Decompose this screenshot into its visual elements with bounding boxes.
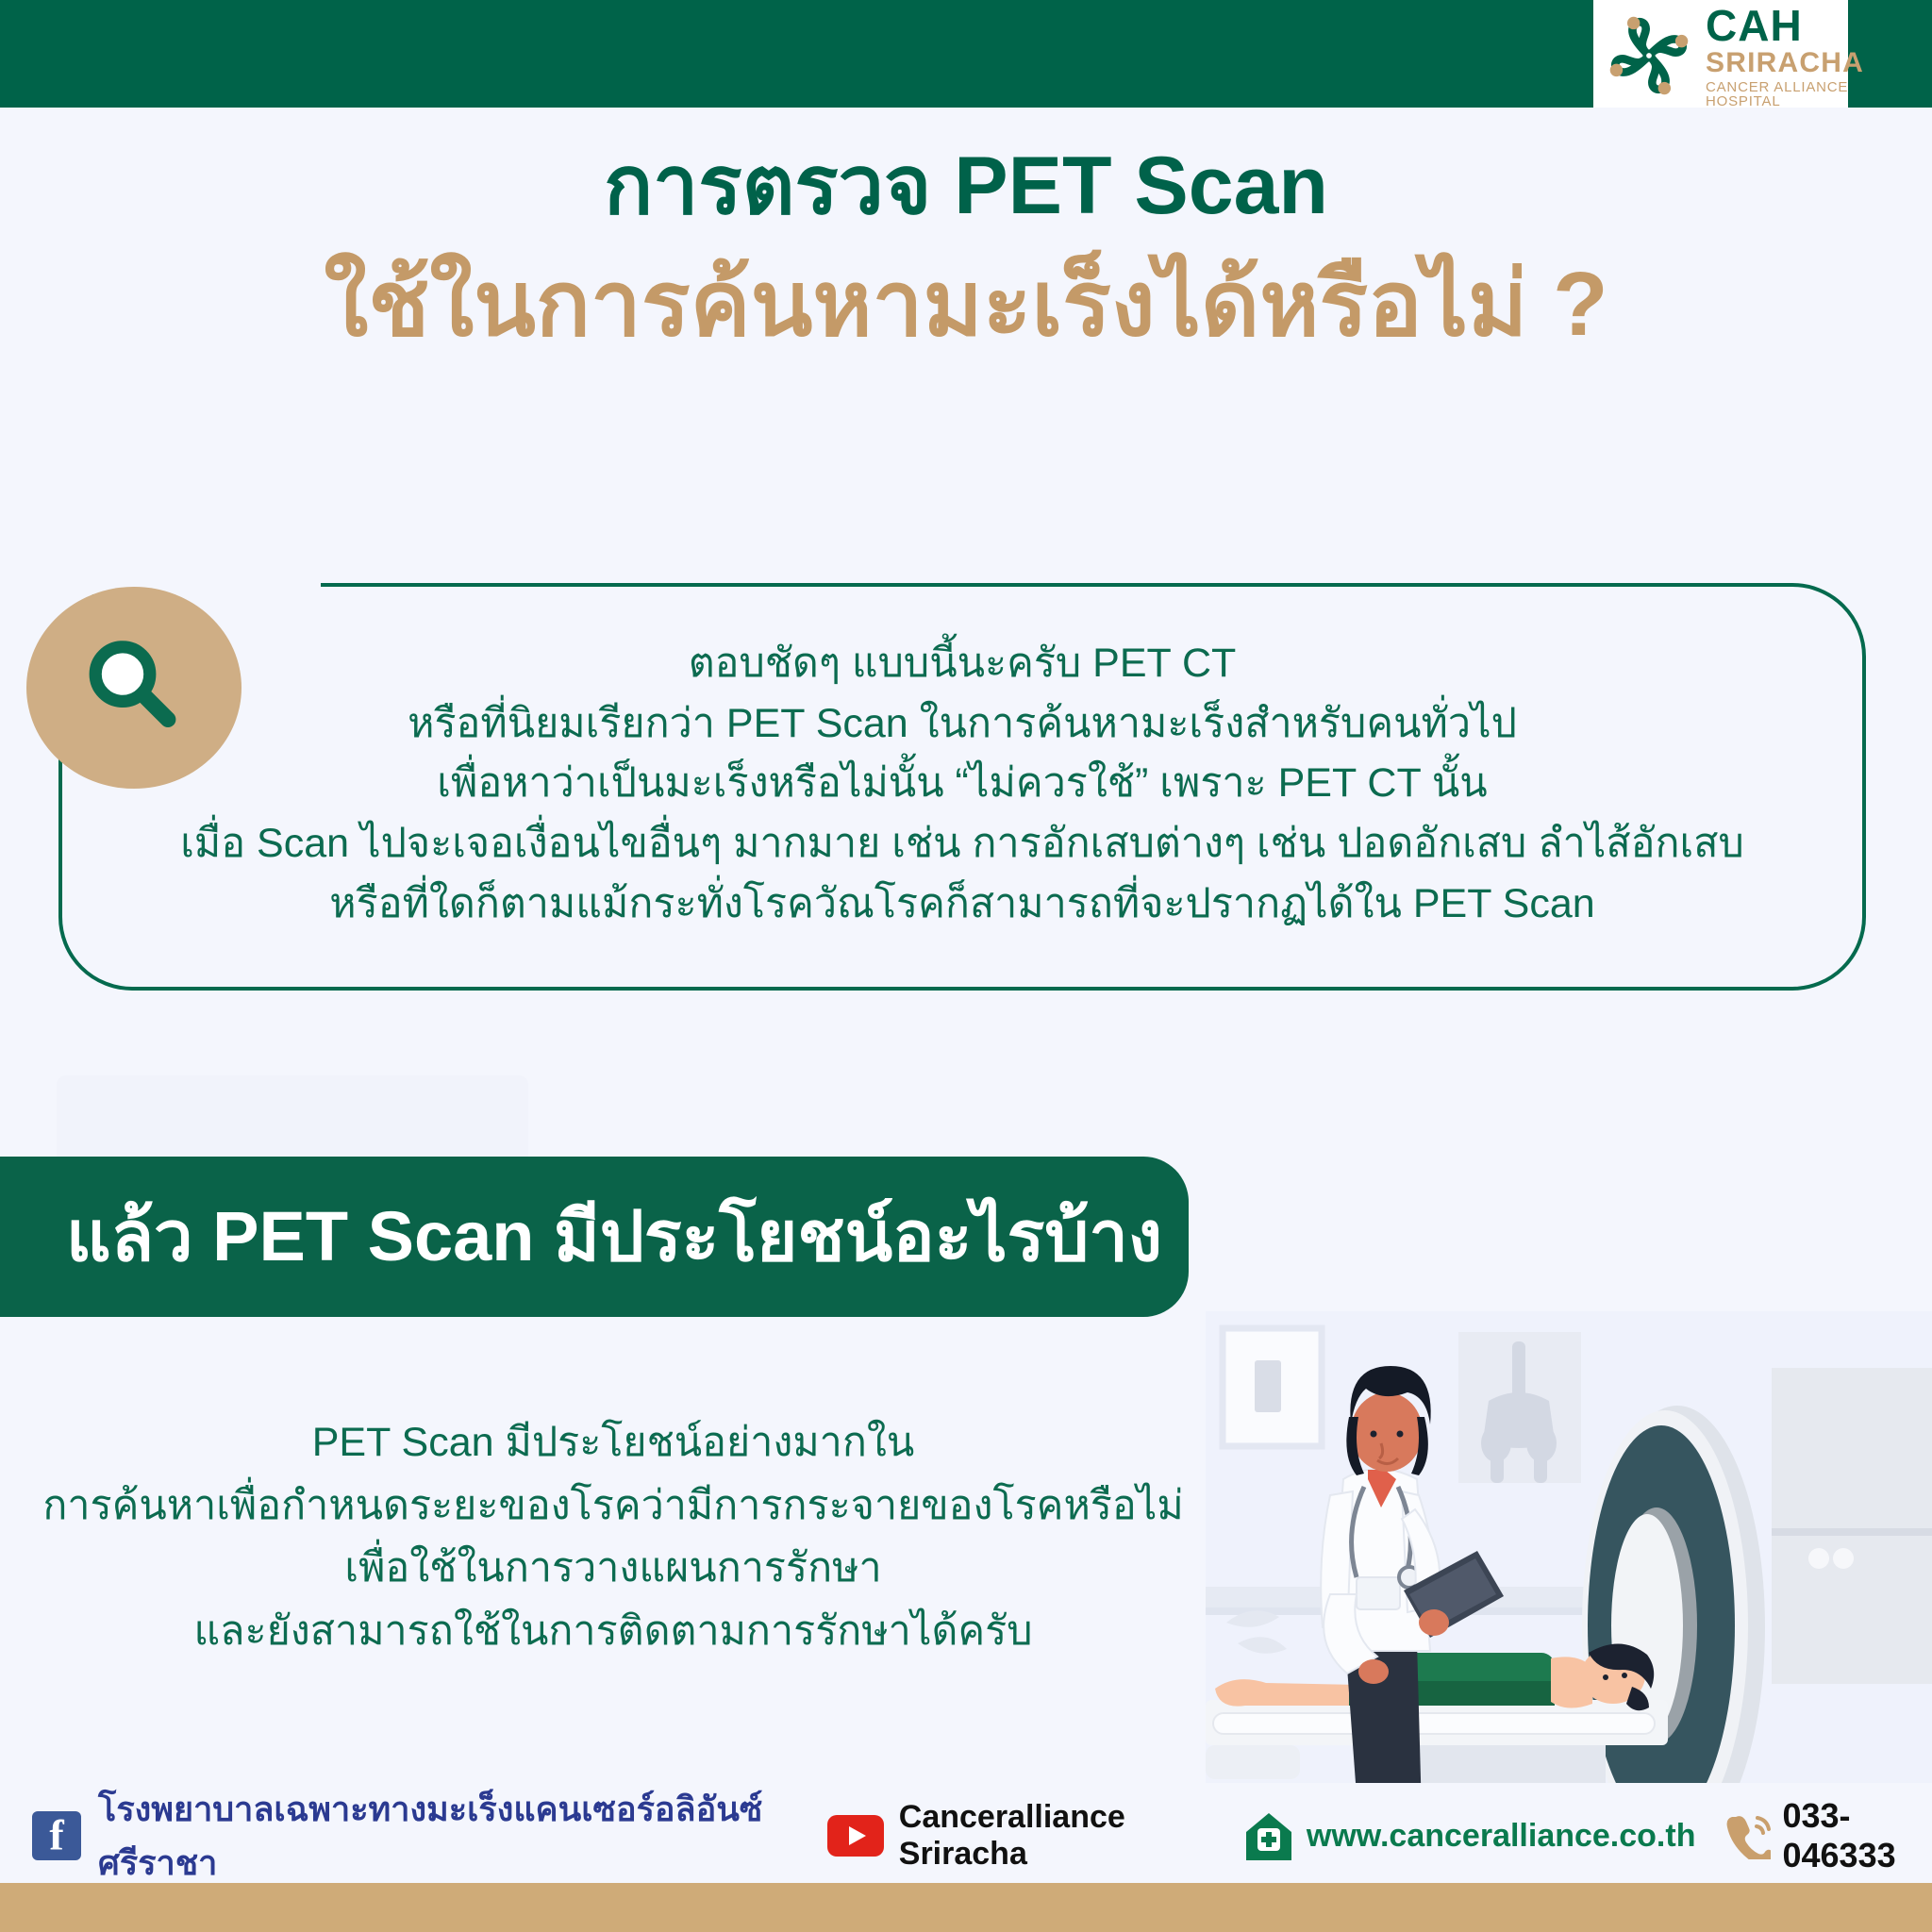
footer-facebook[interactable]: โรงพยาบาลเฉพาะทางมะเร็งแคนเซอร์อลิอันซ์ … [32, 1782, 790, 1890]
hospital-icon[interactable] [1242, 1809, 1295, 1862]
answer-box-text: ตอบชัดๆ แบบนี้นะครับ PET CT หรือที่นิยมเ… [85, 634, 1840, 934]
answer-line-5: หรือที่ใดก็ตามแม้กระทั่งโรควัณโรคก็สามาร… [85, 874, 1840, 935]
cah-logo-mark-icon [1604, 10, 1694, 101]
phone-label: 033-046333 [1782, 1796, 1932, 1875]
answer-line-4: เมื่อ Scan ไปจะเจอเงื่อนไขอื่นๆ มากมาย เ… [85, 814, 1840, 874]
page-subtitle: ใช้ในการค้นหามะเร็งได้หรือไม่ ? [0, 250, 1932, 358]
benefits-banner: แล้ว PET Scan มีประโยชน์อะไรบ้าง [0, 1157, 1189, 1317]
footer-website[interactable]: www.canceralliance.co.th [1207, 1809, 1696, 1862]
page-title: การตรวจ PET Scan [0, 140, 1932, 233]
youtube-icon[interactable] [827, 1815, 884, 1857]
footer-accent-bar [0, 1883, 1932, 1932]
benefits-line-4: และยังสามารถใช้ในการติดตามการรักษาได้ครั… [0, 1600, 1226, 1663]
logo-subtitle-line1: CANCER ALLIANCE [1706, 80, 1864, 94]
logo-subtitle-line2: HOSPITAL [1706, 94, 1864, 108]
website-label: www.canceralliance.co.th [1307, 1818, 1696, 1855]
phone-icon[interactable] [1724, 1812, 1771, 1859]
facebook-icon[interactable] [32, 1811, 81, 1860]
infographic-page: CAH SRIRACHA CANCER ALLIANCE HOSPITAL กา… [0, 0, 1932, 1932]
pet-ct-scanner-illustration [1206, 1311, 1932, 1783]
facebook-label: โรงพยาบาลเฉพาะทางมะเร็งแคนเซอร์อลิอันซ์ … [98, 1782, 790, 1890]
cah-logo: CAH SRIRACHA CANCER ALLIANCE HOSPITAL [1604, 4, 1924, 108]
logo-sriracha-text: SRIRACHA [1706, 49, 1864, 77]
footer-phone[interactable]: 033-046333 [1695, 1796, 1932, 1875]
benefits-line-2: การค้นหาเพื่อกำหนดระยะของโรคว่ามีการกระจ… [0, 1474, 1226, 1538]
logo-cah-text: CAH [1706, 4, 1864, 47]
benefits-banner-label: แล้ว PET Scan มีประโยชน์อะไรบ้าง [0, 1202, 1162, 1272]
answer-line-1: ตอบชัดๆ แบบนี้นะครับ PET CT [85, 634, 1840, 694]
benefits-line-1: PET Scan มีประโยชน์อย่างมากใน [0, 1411, 1226, 1474]
answer-line-3: เพื่อหาว่าเป็นมะเร็งหรือไม่นั้น “ไม่ควรใ… [85, 754, 1840, 814]
youtube-label: Canceralliance Sriracha [899, 1799, 1207, 1873]
footer-youtube[interactable]: Canceralliance Sriracha [790, 1799, 1207, 1873]
answer-box-border-gap [38, 566, 321, 594]
benefits-line-3: เพื่อใช้ในการวางแผนการรักษา [0, 1537, 1226, 1600]
answer-line-2: หรือที่นิยมเรียกว่า PET Scan ในการค้นหาม… [85, 694, 1840, 755]
benefits-text: PET Scan มีประโยชน์อย่างมากใน การค้นหาเพ… [0, 1411, 1226, 1663]
footer-bar: โรงพยาบาลเฉพาะทางมะเร็งแคนเซอร์อลิอันซ์ … [0, 1789, 1932, 1883]
